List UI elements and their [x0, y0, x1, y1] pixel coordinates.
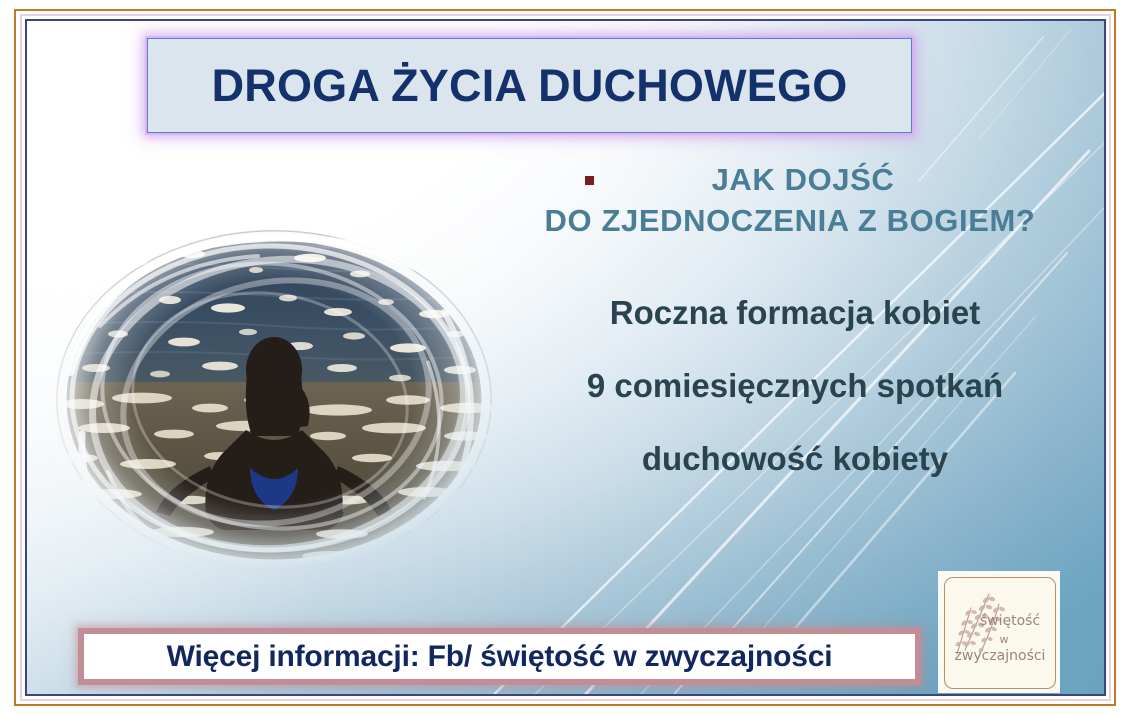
body-line-1: Roczna formacja kobiet: [500, 296, 1090, 329]
brand-logo: świętość w zwyczajności: [938, 571, 1060, 693]
slide-title-box: DROGA ŻYCIA DUCHOWEGO: [147, 38, 912, 133]
brand-logo-line-2: w: [945, 632, 1055, 648]
contact-banner-text: Więcej informacji: Fb/ świętość w zwycza…: [167, 640, 833, 674]
woman-in-water-photo: [42, 222, 507, 592]
body-line-2: 9 comiesięcznych spotkań: [500, 369, 1090, 402]
brand-logo-text: świętość w zwyczajności: [945, 612, 1055, 667]
brand-logo-line-3: zwyczajności: [945, 647, 1055, 667]
subheading-block: JAK DOJŚĆ DO ZJEDNOCZENIA Z BOGIEM?: [490, 160, 1090, 242]
body-line-3: duchowość kobiety: [500, 442, 1090, 475]
contact-banner: Więcej informacji: Fb/ świętość w zwycza…: [78, 628, 921, 685]
brand-logo-card: świętość w zwyczajności: [944, 577, 1056, 689]
page-title: DROGA ŻYCIA DUCHOWEGO: [212, 60, 848, 112]
subheading-line-2: DO ZJEDNOCZENIA Z BOGIEM?: [490, 201, 1090, 242]
slide-root: DROGA ŻYCIA DUCHOWEGO JAK DOJŚĆ DO ZJEDN…: [0, 0, 1135, 715]
body-text-block: Roczna formacja kobiet 9 comiesięcznych …: [500, 296, 1090, 475]
subheading-line-1: JAK DOJŚĆ: [490, 160, 1090, 201]
square-bullet-icon: [585, 176, 594, 185]
brand-logo-line-1: świętość: [945, 612, 1055, 632]
